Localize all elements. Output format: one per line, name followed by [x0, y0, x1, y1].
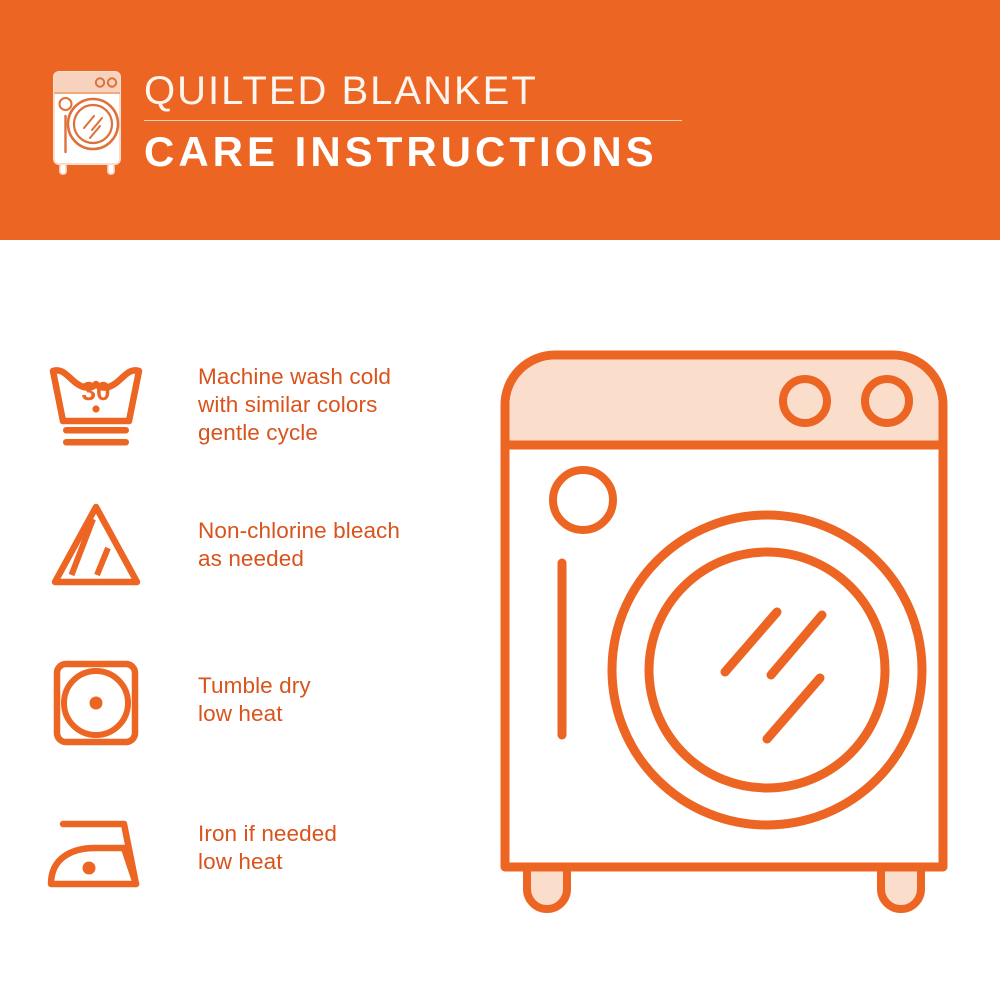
care-instruction-row: 30 Machine wash cold with similar colors… [46, 345, 476, 465]
tumble-dry-low-icon [46, 645, 164, 755]
care-instruction-row: Iron if needed low heat [46, 788, 476, 908]
header-text-block: QUILTED BLANKET CARE INSTRUCTIONS [144, 68, 704, 177]
page-subtitle: CARE INSTRUCTIONS [144, 127, 704, 177]
header-band: QUILTED BLANKET CARE INSTRUCTIONS [0, 0, 1000, 240]
front-load-washing-machine-illustration [495, 335, 965, 930]
care-instruction-label: Iron if needed low heat [164, 820, 337, 876]
page-title: QUILTED BLANKET [144, 68, 704, 114]
care-instruction-row: Tumble dry low heat [46, 640, 476, 760]
care-label-line: Tumble dry [198, 672, 311, 700]
care-label-line: gentle cycle [198, 419, 391, 447]
care-label-line: low heat [198, 848, 337, 876]
care-label-line: as needed [198, 545, 400, 573]
washing-machine-icon [46, 66, 130, 176]
wash-basin-30-icon: 30 [46, 350, 164, 460]
header-divider [144, 120, 682, 121]
bleach-triangle-striped-icon [46, 490, 164, 600]
care-label-line: low heat [198, 700, 311, 728]
care-label-line: Non-chlorine bleach [198, 517, 400, 545]
care-instruction-label: Tumble dry low heat [164, 672, 311, 728]
care-instruction-label: Non-chlorine bleach as needed [164, 517, 400, 573]
iron-low-heat-icon [46, 793, 164, 903]
care-label-line: Iron if needed [198, 820, 337, 848]
care-label-line: Machine wash cold [198, 363, 391, 391]
care-instruction-row: Non-chlorine bleach as needed [46, 485, 476, 605]
care-instructions-page: QUILTED BLANKET CARE INSTRUCTIONS 30 Mac… [0, 0, 1000, 1000]
wash-temperature-value: 30 [82, 376, 111, 406]
care-instruction-label: Machine wash cold with similar colors ge… [164, 363, 391, 447]
care-label-line: with similar colors [198, 391, 391, 419]
